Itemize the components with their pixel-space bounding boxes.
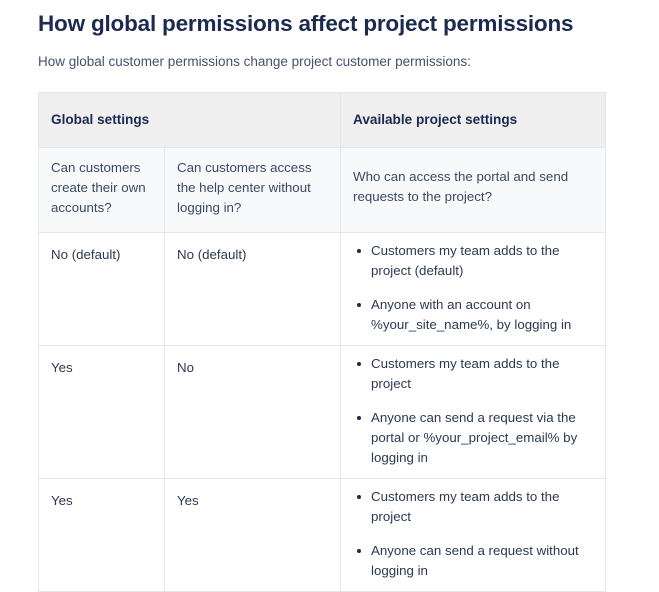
cell-project-options: Customers my team adds to the project An…	[341, 479, 606, 592]
cell-create-accounts: No (default)	[39, 233, 165, 346]
page-subtitle: How global customer permissions change p…	[38, 52, 638, 72]
column-header-available-project-settings: Available project settings	[341, 93, 606, 148]
project-options-list: Customers my team adds to the project (d…	[349, 241, 593, 335]
cell-help-center: No (default)	[165, 233, 341, 346]
list-item: Anyone with an account on %your_site_nam…	[371, 295, 593, 335]
table-row: Yes No Customers my team adds to the pro…	[39, 346, 606, 479]
list-item: Anyone can send a request without loggin…	[371, 541, 593, 581]
permissions-table: Global settings Available project settin…	[38, 92, 606, 592]
table-question-row: Can customers create their own accounts?…	[39, 148, 606, 233]
page-title: How global permissions affect project pe…	[38, 9, 638, 39]
cell-project-options: Customers my team adds to the project (d…	[341, 233, 606, 346]
cell-create-accounts: Yes	[39, 346, 165, 479]
list-item: Anyone can send a request via the portal…	[371, 408, 593, 468]
project-options-list: Customers my team adds to the project An…	[349, 487, 593, 581]
cell-create-accounts: Yes	[39, 479, 165, 592]
cell-project-options: Customers my team adds to the project An…	[341, 346, 606, 479]
table-row: No (default) No (default) Customers my t…	[39, 233, 606, 346]
page-root: How global permissions affect project pe…	[0, 0, 659, 559]
project-options-list: Customers my team adds to the project An…	[349, 354, 593, 468]
table-head: Global settings Available project settin…	[39, 93, 606, 148]
column-header-global-settings: Global settings	[39, 93, 341, 148]
question-global-help-center: Can customers access the help center wit…	[165, 148, 341, 233]
question-global-create-accounts: Can customers create their own accounts?	[39, 148, 165, 233]
list-item: Customers my team adds to the project	[371, 354, 593, 394]
question-project-access: Who can access the portal and send reque…	[341, 148, 606, 233]
list-item: Customers my team adds to the project	[371, 487, 593, 527]
cell-help-center: Yes	[165, 479, 341, 592]
table-row: Yes Yes Customers my team adds to the pr…	[39, 479, 606, 592]
table-body: Can customers create their own accounts?…	[39, 148, 606, 592]
list-item: Customers my team adds to the project (d…	[371, 241, 593, 281]
permissions-table-container: Global settings Available project settin…	[38, 92, 605, 592]
cell-help-center: No	[165, 346, 341, 479]
table-header-row: Global settings Available project settin…	[39, 93, 606, 148]
